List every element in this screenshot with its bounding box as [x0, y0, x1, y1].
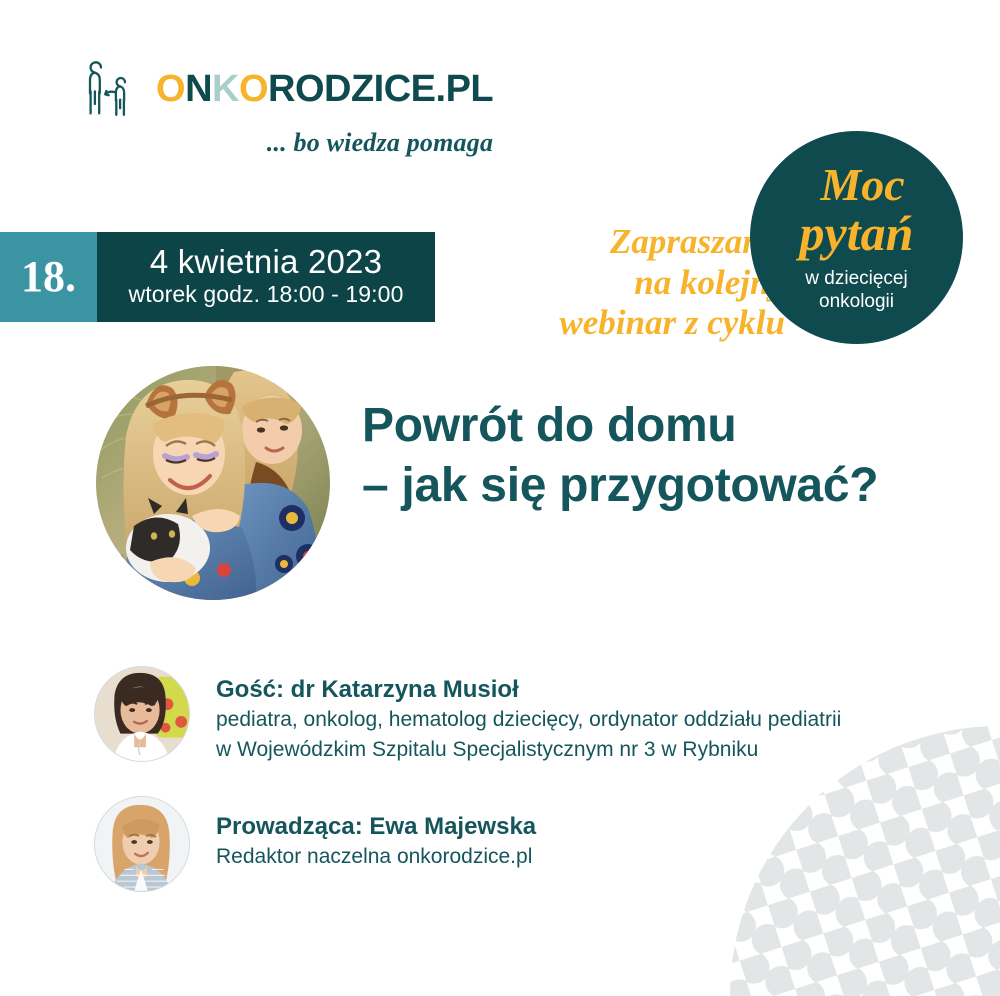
webinar-poster: ONKORODZICE.PL ... bo wiedza pomaga 18. … — [0, 0, 1000, 996]
series-badge: Moc pytań w dziecięcej onkologii — [750, 131, 963, 344]
logo-word-rest: RODZICE.PL — [268, 68, 493, 110]
badge-title-line-2: pytań — [800, 209, 914, 258]
hero-photo — [96, 366, 330, 600]
title-line-1: Powrót do domu — [362, 396, 962, 456]
badge-title-line-1: Moc — [820, 162, 904, 207]
speaker-host: Prowadząca: Ewa Majewska Redaktor naczel… — [94, 796, 536, 892]
logo-wordmark: ONKORODZICE.PL — [156, 70, 493, 108]
guest-portrait-photo — [95, 667, 189, 761]
speaker-name: Gość: dr Katarzyna Musioł — [216, 675, 841, 705]
logo-letter-o2: O — [239, 68, 268, 110]
page-title: Powrót do domu – jak się przygotować? — [362, 396, 962, 516]
badge-subtitle-line-1: w dziecięcej — [805, 268, 907, 290]
speaker-text: Gość: dr Katarzyna Musioł pediatra, onko… — [216, 666, 841, 766]
speaker-desc-line-2: w Wojewódzkim Szpitalu Specjalistycznym … — [216, 735, 841, 765]
logo-letter-k: K — [212, 68, 239, 110]
two-girls-holding-a-cat-photo — [96, 366, 330, 600]
logo-tagline: ... bo wiedza pomaga — [267, 128, 493, 158]
avatar — [94, 796, 190, 892]
title-line-2: – jak się przygotować? — [362, 456, 962, 516]
badge-subtitle: w dziecięcej onkologii — [805, 268, 907, 313]
invite-line-1: Zapraszamy — [455, 222, 785, 263]
badge-subtitle-line-2: onkologii — [805, 291, 907, 313]
logo-letter-n: N — [185, 68, 212, 110]
episode-number: 18. — [21, 255, 76, 299]
episode-number-box: 18. — [0, 232, 97, 322]
invite-line-2: na kolejny — [455, 263, 785, 304]
date-text-box: 4 kwietnia 2023 wtorek godz. 18:00 - 19:… — [97, 232, 435, 322]
brand-logo[interactable]: ONKORODZICE.PL ... bo wiedza pomaga — [84, 58, 493, 158]
avatar — [94, 666, 190, 762]
event-time: wtorek godz. 18:00 - 19:00 — [129, 281, 404, 309]
logo-row: ONKORODZICE.PL — [84, 58, 493, 120]
event-date: 4 kwietnia 2023 — [150, 244, 382, 281]
speaker-name: Prowadząca: Ewa Majewska — [216, 812, 536, 842]
invite-line-3: webinar z cyklu — [455, 303, 785, 344]
logo-letter-o1: O — [156, 68, 185, 110]
speaker-desc-line-1: pediatra, onkolog, hematolog dziecięcy, … — [216, 705, 841, 735]
invitation-text: Zapraszamy na kolejny webinar z cyklu — [455, 222, 785, 344]
speaker-guest: Gość: dr Katarzyna Musioł pediatra, onko… — [94, 666, 841, 766]
speaker-text: Prowadząca: Ewa Majewska Redaktor naczel… — [216, 796, 536, 872]
host-portrait-photo — [95, 797, 189, 891]
date-banner: 18. 4 kwietnia 2023 wtorek godz. 18:00 -… — [0, 232, 435, 322]
parent-and-child-figures-icon — [84, 58, 142, 120]
speaker-desc-line-1: Redaktor naczelna onkorodzice.pl — [216, 842, 536, 872]
